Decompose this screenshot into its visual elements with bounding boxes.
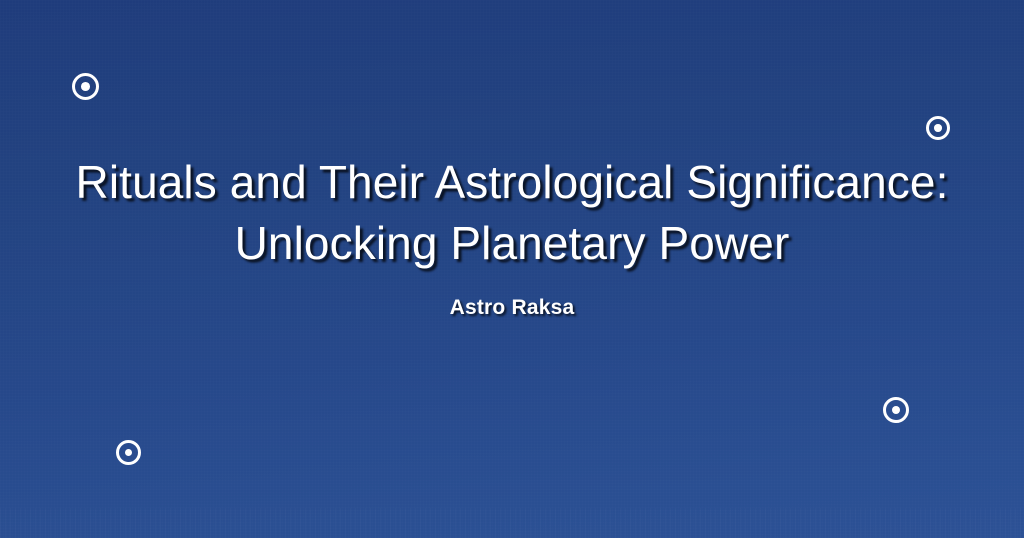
deco-dot-top-right-icon [926,116,950,140]
slide-subtitle: Astro Raksa [40,296,984,320]
deco-dot-core [125,449,133,457]
deco-dot-core [81,82,90,91]
deco-dot-core [934,124,942,132]
deco-dot-bottom-left-icon [116,440,141,465]
bottom-haze-band [0,508,1024,538]
slide-title: Rituals and Their Astrological Significa… [40,152,984,274]
deco-dot-bottom-right-icon [883,397,909,423]
deco-dot-top-left-icon [72,73,99,100]
slide-content: Rituals and Their Astrological Significa… [0,152,1024,320]
presentation-slide: Rituals and Their Astrological Significa… [0,0,1024,538]
deco-dot-core [892,406,900,414]
